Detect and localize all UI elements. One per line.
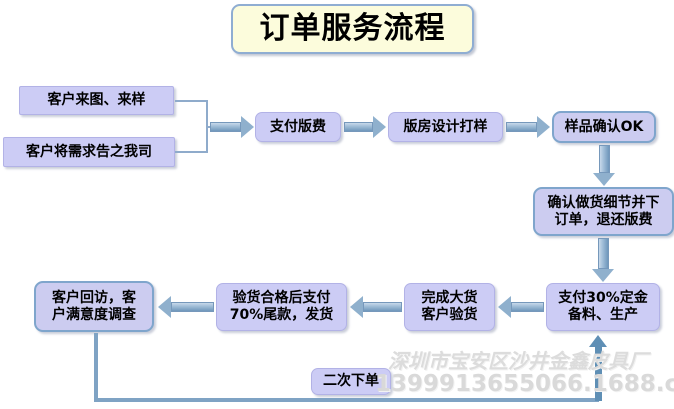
arrow-to-sample-design	[344, 116, 386, 138]
arrow-head	[537, 116, 550, 138]
node-customer-followup[interactable]: 客户回访，客 户满意度调查	[34, 281, 154, 332]
node-customer-followup-line-2: 户满意度调查	[39, 307, 149, 324]
loop-segment-vertical-left	[94, 333, 98, 402]
node-pay-balance-line-2: 70%尾款，发货	[220, 307, 343, 324]
node-bulk-done-line-2: 客户验货	[408, 307, 491, 324]
node-customer-drawing-label: 客户来图、来样	[23, 92, 170, 109]
arrow-head	[373, 116, 386, 138]
arrow-shaft	[598, 238, 609, 269]
arrow-shaft	[171, 302, 214, 312]
node-pay-mold-fee-label: 支付版费	[259, 119, 337, 136]
watermark-company: 深圳市宝安区沙井金鑫皮具厂	[388, 345, 648, 374]
node-confirm-order-line-1: 确认做货细节并下	[538, 195, 669, 212]
node-bulk-done-lines: 完成大货 客户验货	[408, 290, 491, 324]
node-confirm-order-line-2: 订单，退还版费	[538, 212, 669, 229]
node-customer-followup-line-1: 客户回访，客	[39, 290, 149, 307]
arrow-shaft	[599, 145, 610, 173]
arrow-to-bulk-done	[498, 296, 544, 318]
arrow-to-pay-balance	[350, 296, 402, 318]
node-reorder-label: 二次下单	[315, 373, 387, 390]
node-sample-confirm[interactable]: 样品确认OK	[552, 111, 656, 143]
node-confirm-order[interactable]: 确认做货细节并下 订单，退还版费	[533, 187, 674, 236]
arrow-shaft	[210, 122, 241, 132]
node-customer-followup-lines: 客户回访，客 户满意度调查	[39, 290, 149, 324]
connector-bracket-bottom	[175, 151, 208, 153]
arrow-to-pay-mold-fee	[210, 116, 254, 138]
node-confirm-order-lines: 确认做货细节并下 订单，退还版费	[538, 195, 669, 229]
arrow-to-pay-deposit	[592, 238, 614, 282]
chart-title-box: 订单服务流程	[231, 4, 474, 54]
node-bulk-done-line-1: 完成大货	[408, 290, 491, 307]
arrow-shaft	[363, 302, 402, 312]
node-pay-deposit-line-1: 支付30%定金	[550, 290, 656, 307]
node-pay-deposit[interactable]: 支付30%定金 备料、生产	[546, 283, 660, 331]
node-pay-balance-lines: 验货合格后支付 70%尾款，发货	[220, 290, 343, 324]
arrow-to-customer-followup	[158, 296, 214, 318]
arrow-shaft	[511, 302, 544, 312]
arrow-to-sample-confirm	[506, 116, 550, 138]
arrow-head	[593, 173, 615, 186]
chart-title-text: 订单服务流程	[260, 14, 446, 44]
arrow-shaft	[506, 122, 537, 132]
loop-arrow-up-to-pay-deposit	[588, 335, 608, 401]
node-pay-balance[interactable]: 验货合格后支付 70%尾款，发货	[216, 283, 347, 331]
arrow-shaft	[344, 122, 373, 132]
arrow-head	[592, 269, 614, 282]
node-sample-confirm-label: 样品确认OK	[557, 119, 651, 136]
watermark-url: 1399913655066.1688.com	[375, 371, 674, 397]
node-pay-deposit-lines: 支付30%定金 备料、生产	[550, 290, 656, 324]
node-pay-balance-line-1: 验货合格后支付	[220, 290, 343, 307]
arrow-shaft	[595, 345, 602, 401]
arrow-head	[158, 296, 171, 318]
node-customer-request[interactable]: 客户将需求告之我司	[3, 137, 175, 167]
node-customer-request-label: 客户将需求告之我司	[7, 144, 171, 161]
node-reorder[interactable]: 二次下单	[311, 368, 391, 395]
node-sample-design-label: 版房设计打样	[392, 119, 499, 136]
arrow-head	[241, 116, 254, 138]
arrow-head	[350, 296, 363, 318]
node-pay-deposit-line-2: 备料、生产	[550, 307, 656, 324]
node-sample-design[interactable]: 版房设计打样	[388, 112, 503, 142]
connector-bracket-top	[175, 100, 208, 102]
node-customer-drawing[interactable]: 客户来图、来样	[19, 86, 174, 115]
arrow-to-confirm-order	[593, 145, 615, 186]
loop-segment-horizontal-bottom	[94, 398, 599, 402]
flowchart-canvas: 订单服务流程 客户来图、来样 客户将需求告之我司 支付版费 版房设计打样 样品确…	[0, 0, 674, 409]
node-bulk-done[interactable]: 完成大货 客户验货	[404, 283, 495, 331]
node-pay-mold-fee[interactable]: 支付版费	[255, 112, 341, 142]
arrow-head	[498, 296, 511, 318]
